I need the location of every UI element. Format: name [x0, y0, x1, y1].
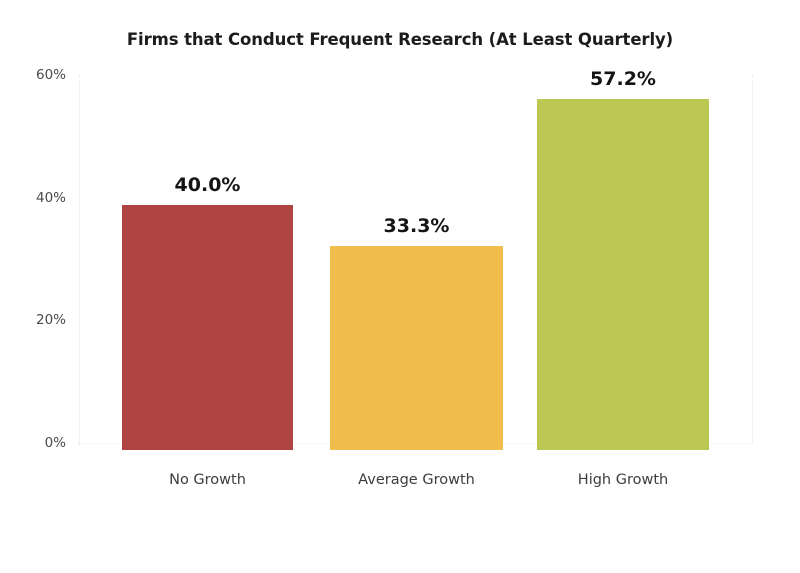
bar-high-growth[interactable]: 57.2% High Growth [537, 67, 709, 450]
x-tick-label-average-growth: Average Growth [358, 472, 475, 488]
chart-title: Firms that Conduct Frequent Research (At… [0, 30, 800, 49]
bar-value-average-growth: 33.3% [384, 215, 450, 237]
y-tick-label-20: 20% [8, 312, 66, 328]
y-axis-spine-left [79, 75, 80, 445]
bar-chart: Firms that Conduct Frequent Research (At… [0, 0, 800, 573]
y-tick-label-0: 0% [8, 435, 66, 451]
bar-rect-average-growth [330, 246, 503, 450]
bar-value-high-growth: 57.2% [590, 68, 656, 90]
y-tick-label-60: 60% [8, 67, 66, 83]
bar-value-no-growth: 40.0% [175, 174, 241, 196]
bar-no-growth[interactable]: 40.0% No Growth [122, 67, 293, 450]
plot-area: 0% 20% 40% 60% 40.0% No Growth 33.3% Ave… [78, 60, 752, 450]
bar-rect-high-growth [537, 99, 709, 450]
x-tick-label-no-growth: No Growth [169, 472, 246, 488]
y-axis-spine-right [752, 75, 753, 445]
x-tick-label-high-growth: High Growth [578, 472, 668, 488]
bar-rect-no-growth [122, 205, 293, 450]
y-tick-label-40: 40% [8, 190, 66, 206]
bar-average-growth[interactable]: 33.3% Average Growth [330, 67, 503, 450]
